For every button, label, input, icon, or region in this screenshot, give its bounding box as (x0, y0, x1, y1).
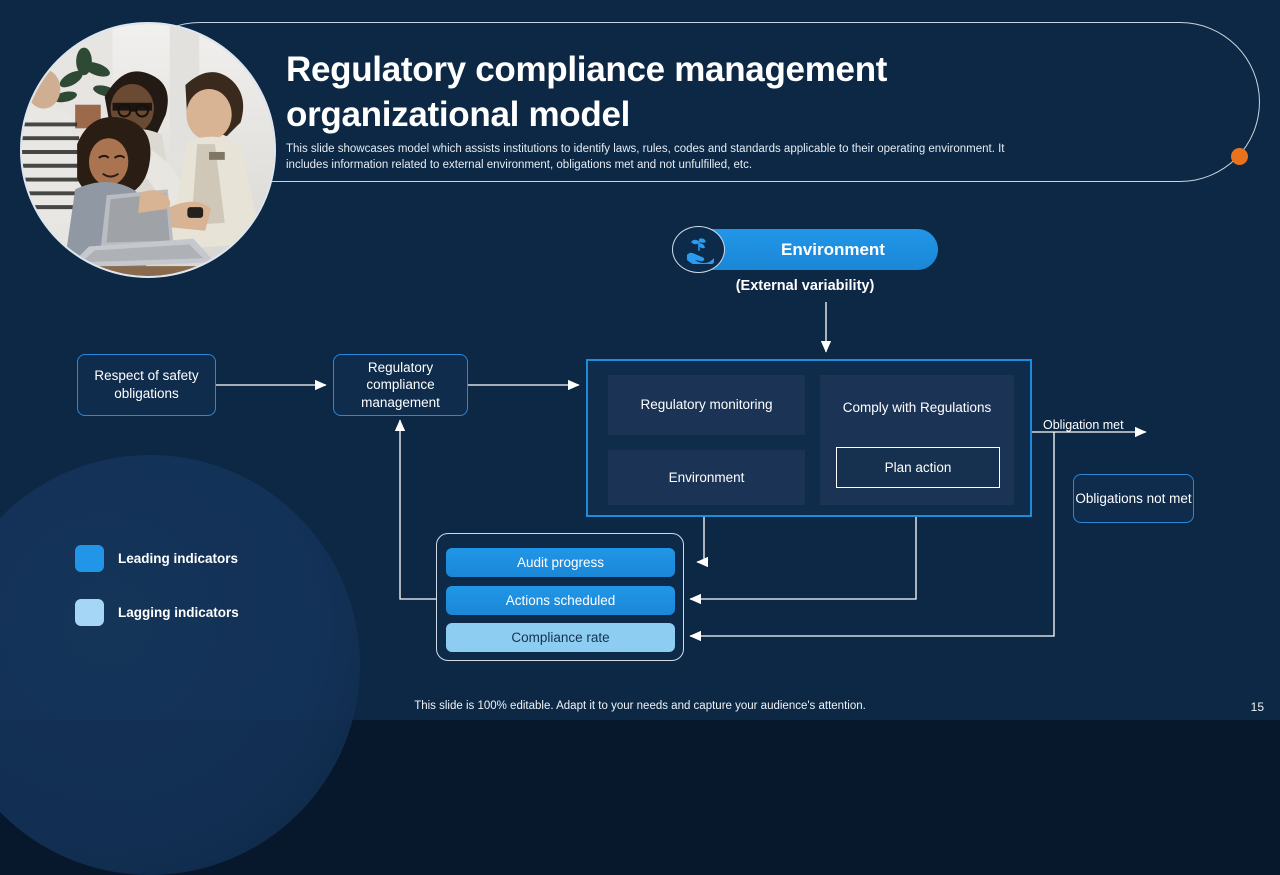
compliance-panel: Regulatory monitoring Environment Comply… (586, 359, 1032, 517)
indicator-audit-progress[interactable]: Audit progress (446, 548, 675, 577)
page-title: Regulatory compliance management organiz… (286, 48, 1046, 138)
legend-item-leading: Leading indicators (75, 545, 238, 572)
legend-swatch-lagging-icon (75, 599, 104, 626)
indicator-actions-scheduled[interactable]: Actions scheduled (446, 586, 675, 615)
legend-item-lagging: Lagging indicators (75, 599, 239, 626)
team-photo-image (22, 24, 274, 276)
plan-action-box[interactable]: Plan action (836, 447, 1000, 488)
environment-badge-label: Environment (728, 229, 938, 270)
hand-plant-icon (672, 226, 725, 273)
footer-note: This slide is 100% editable. Adapt it to… (0, 700, 1280, 712)
indicators-group: Audit progress Actions scheduled Complia… (436, 533, 684, 661)
page-number: 15 (1251, 700, 1264, 714)
regulatory-monitoring-box[interactable]: Regulatory monitoring (608, 375, 805, 435)
team-photo (20, 22, 276, 278)
background-blob (0, 455, 360, 875)
obligation-met-label: Obligation met (1043, 418, 1124, 432)
page-subtitle: This slide showcases model which assists… (286, 142, 1046, 173)
environment-caption: (External variability) (672, 278, 938, 294)
regulatory-compliance-management-box[interactable]: Regulatory compliance management (333, 354, 468, 416)
obligations-not-met-box[interactable]: Obligations not met (1073, 474, 1194, 523)
legend-label-lagging: Lagging indicators (118, 605, 239, 620)
legend-label-leading: Leading indicators (118, 551, 238, 566)
environment-box[interactable]: Environment (608, 450, 805, 505)
orange-dot-icon (1231, 148, 1248, 165)
indicator-compliance-rate[interactable]: Compliance rate (446, 623, 675, 652)
legend-swatch-leading-icon (75, 545, 104, 572)
respect-safety-obligations-box[interactable]: Respect of safety obligations (77, 354, 216, 416)
